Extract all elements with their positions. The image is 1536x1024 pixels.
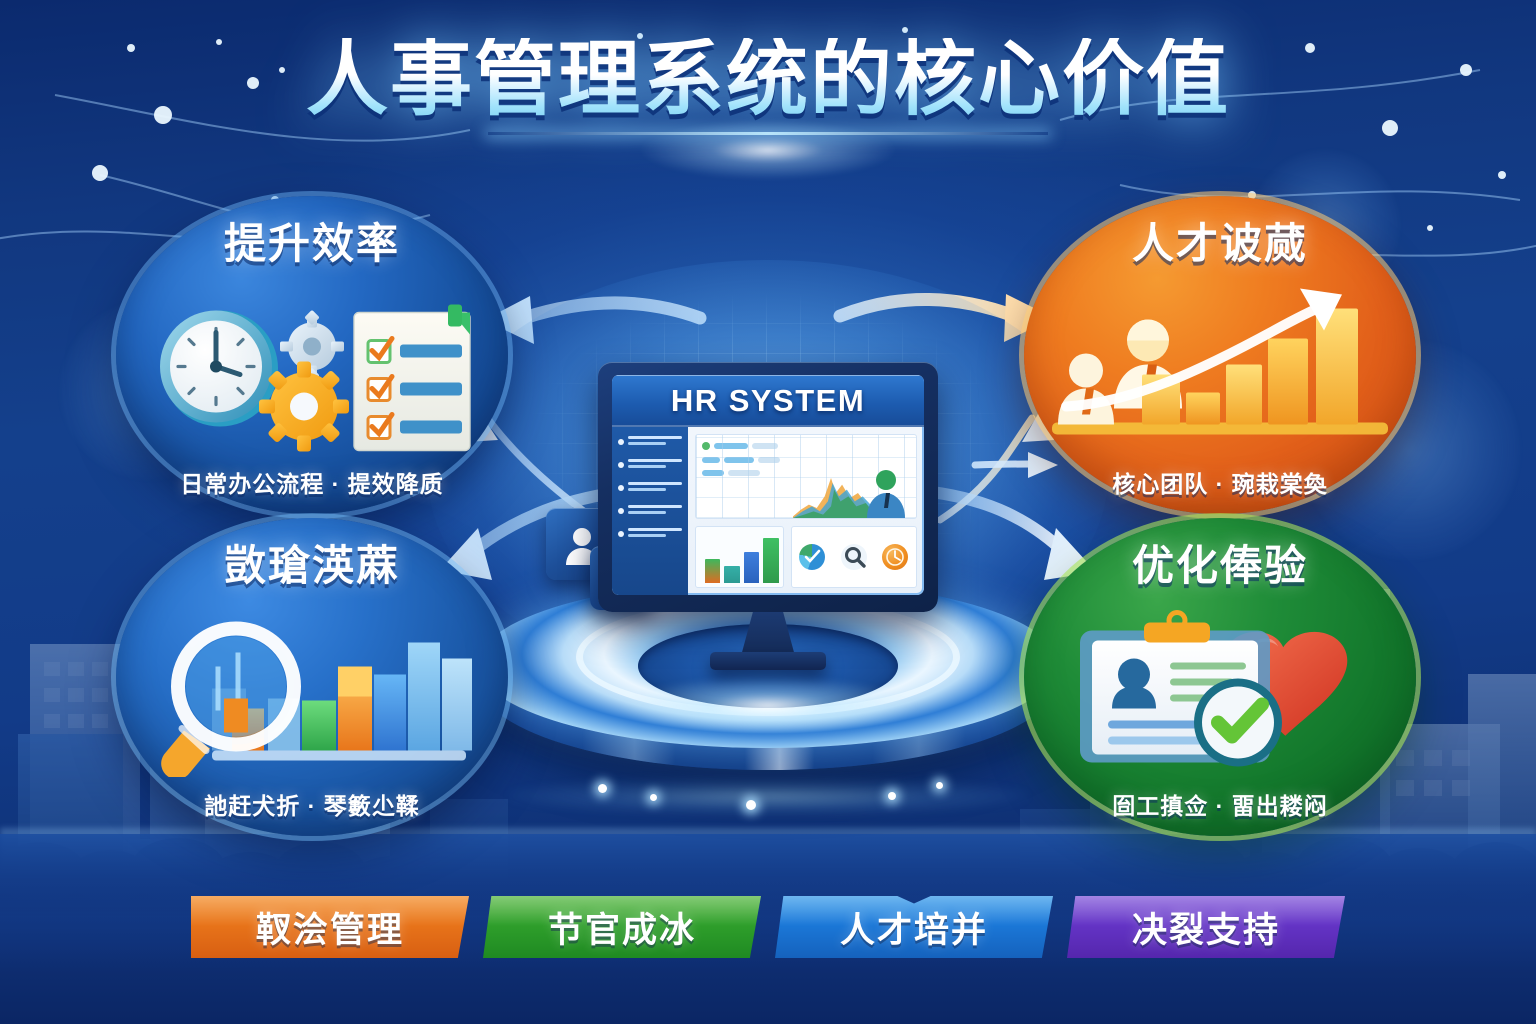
bullet-icon <box>618 462 624 468</box>
bar <box>744 552 759 583</box>
tag-label: 节官成冰 <box>548 902 696 953</box>
pedestal-spark <box>936 782 943 789</box>
infographic-poster: 人事管理系统的核心价值 <box>0 0 1536 1024</box>
bubble-artwork <box>1024 280 1416 455</box>
talent-art-svg <box>1024 280 1416 455</box>
value-bubble-experience[interactable]: 优化俸验 <box>1024 518 1416 836</box>
bubble-subtitle: 日常办公流程 · 提效降质 <box>180 465 443 523</box>
checklist-icon <box>354 304 470 450</box>
pie-chart-check-icon[interactable] <box>799 544 825 570</box>
gear-icon <box>280 309 344 383</box>
check-badge-icon <box>1194 678 1282 766</box>
bullet-icon <box>618 439 624 445</box>
efficiency-art-svg <box>116 280 508 455</box>
bar <box>705 559 720 583</box>
tag-label: 靫浍管理 <box>256 902 404 953</box>
monitor-screen: HR SYSTEM <box>612 375 924 595</box>
employee-avatar <box>862 445 910 518</box>
dashboard-icon-row <box>791 526 917 588</box>
bubble-artwork <box>116 280 508 455</box>
value-bubble-efficiency[interactable]: 提升效率 <box>116 196 508 514</box>
bubble-title: 提升效率 <box>224 222 400 267</box>
tag-cost-saving[interactable]: 节官成冰 <box>483 896 761 958</box>
bullet-icon <box>618 531 624 537</box>
avatar-glyph <box>863 468 909 518</box>
pedestal-spark <box>650 794 657 801</box>
analytics-art-svg <box>116 602 508 777</box>
pedestal-glow <box>618 676 918 736</box>
monitor-base <box>710 652 826 670</box>
experience-art-svg <box>1024 602 1416 777</box>
mini-bar-chart <box>705 532 779 583</box>
pedestal-spark <box>598 784 607 793</box>
pedestal-spark <box>888 792 896 800</box>
bubble-artwork <box>1024 602 1416 777</box>
bubble-subtitle: 訑赶犬折 · 琴籔尐鞣 <box>204 787 419 845</box>
sidebar-item-5[interactable] <box>618 528 682 540</box>
pedestal-underglow <box>508 776 1028 816</box>
app-sidebar[interactable] <box>612 427 688 595</box>
sidebar-item-label <box>628 482 682 494</box>
bubble-subtitle: 核心团队 · 琬栽棠奐 <box>1112 465 1327 523</box>
title-divider <box>488 132 1048 135</box>
center-stage: HR SYSTEM <box>468 270 1068 830</box>
dashboard-overview-panel <box>695 434 917 519</box>
app-title: HR SYSTEM <box>671 383 865 419</box>
bubble-title: 优化俸验 <box>1132 544 1308 589</box>
poster-title-block: 人事管理系统的核心价值 <box>0 38 1536 135</box>
sidebar-item-1[interactable] <box>618 436 682 448</box>
sidebar-item-4[interactable] <box>618 505 682 517</box>
bubble-title: 敳瑲渶蔴 <box>224 544 400 589</box>
sidebar-item-2[interactable] <box>618 459 682 471</box>
tag-talent-development[interactable]: 人才培并 <box>775 896 1053 958</box>
tag-label: 决裂支持 <box>1132 902 1280 953</box>
dashboard-widgets-row <box>695 526 917 588</box>
bullet-icon <box>618 485 624 491</box>
sidebar-item-label <box>628 528 682 540</box>
hr-system-monitor: HR SYSTEM <box>598 362 938 612</box>
sidebar-item-label <box>628 459 682 471</box>
page-title: 人事管理系统的核心价值 <box>306 38 1230 122</box>
sidebar-item-label <box>628 436 682 448</box>
sidebar-item-3[interactable] <box>618 482 682 494</box>
tag-label: 人才培并 <box>840 902 988 953</box>
bubble-subtitle: 囼工搷佥 · 畱出耧闷 <box>1112 787 1327 845</box>
check-overlay <box>799 544 825 570</box>
magnifier-glyph <box>841 544 867 570</box>
clock-glyph <box>882 544 908 570</box>
app-body <box>612 427 924 595</box>
dashboard-area <box>688 427 924 595</box>
bubble-title: 人才诐蒇 <box>1132 222 1308 267</box>
area-chart-sparkline <box>793 468 872 518</box>
value-bubble-talent[interactable]: 人才诐蒇 <box>1024 196 1416 514</box>
bar <box>763 538 778 583</box>
tag-decision-support[interactable]: 决裂支持 <box>1067 896 1345 958</box>
bar <box>724 566 739 583</box>
bullet-icon <box>618 508 624 514</box>
tag-standard-management[interactable]: 靫浍管理 <box>191 896 469 958</box>
bubble-artwork <box>116 602 508 777</box>
pedestal-spark <box>746 800 756 810</box>
sidebar-item-label <box>628 505 682 517</box>
bottom-tag-strip: 靫浍管理 节官成冰 人才培并 决裂支持 <box>0 896 1536 958</box>
app-header-bar: HR SYSTEM <box>612 375 924 427</box>
magnifier-icon[interactable] <box>841 544 867 570</box>
mini-bar-chart-widget <box>695 526 784 588</box>
clock-icon[interactable] <box>882 544 908 570</box>
value-bubble-analytics[interactable]: 敳瑲渶蔴 <box>116 518 508 836</box>
